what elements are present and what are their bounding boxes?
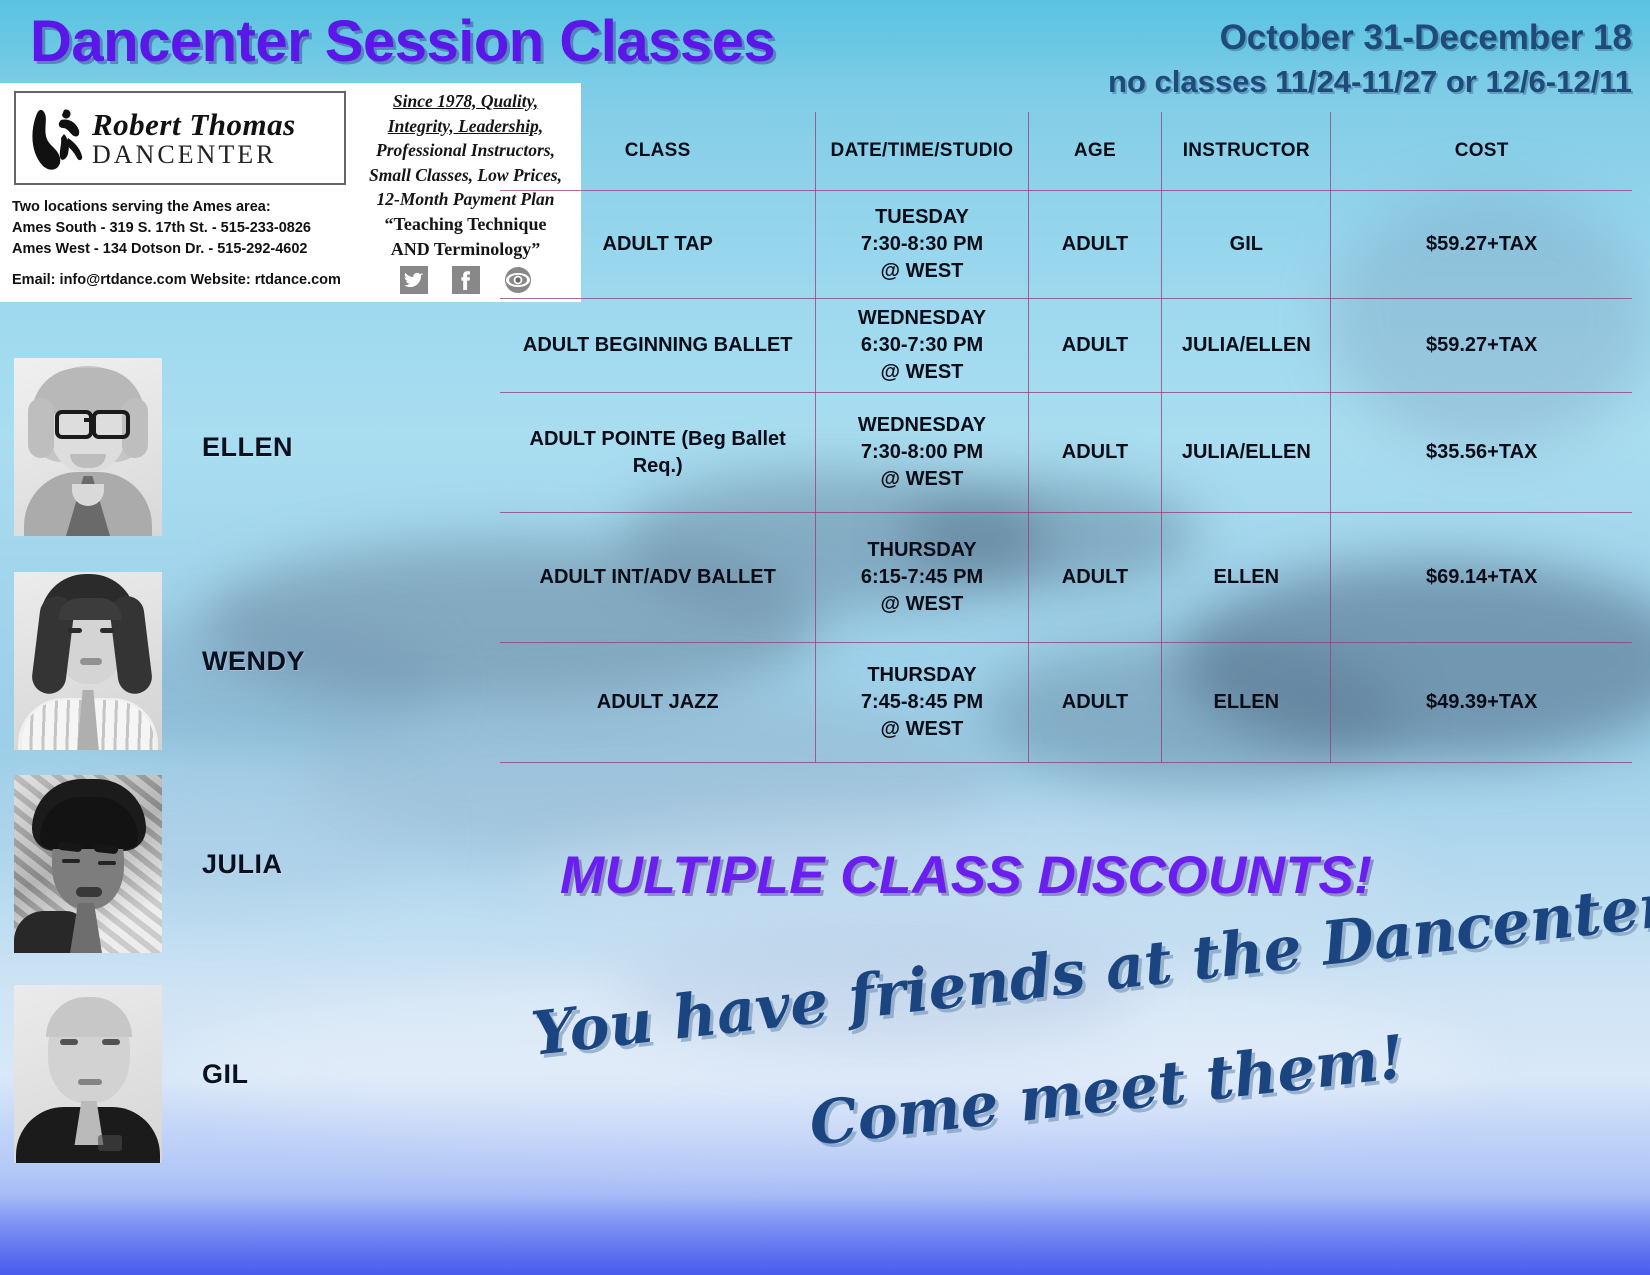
cell-cost: $69.14+TAX <box>1331 513 1632 643</box>
cell-age: ADULT <box>1028 191 1162 299</box>
table-row: ADULT TAP TUESDAY 7:30-8:30 PM @ WEST AD… <box>500 191 1632 299</box>
cell-datetime: THURSDAY 7:45-8:45 PM @ WEST <box>816 643 1028 763</box>
table-row: ADULT BEGINNING BALLET WEDNESDAY 6:30-7:… <box>500 299 1632 393</box>
table-row: ADULT POINTE (Beg Ballet Req.) WEDNESDAY… <box>500 393 1632 513</box>
facebook-icon[interactable] <box>452 266 480 294</box>
session-dates: October 31-December 18 no classes 11/24-… <box>1108 18 1632 102</box>
cell-class: ADULT JAZZ <box>500 643 816 763</box>
cell-instructor: ELLEN <box>1162 643 1331 763</box>
slogan-line-2: Come meet them! <box>806 1023 1408 1160</box>
cell-time: 7:45-8:45 PM <box>820 689 1023 716</box>
discount-banner: MULTIPLE CLASS DISCOUNTS! <box>560 845 1372 906</box>
studio-info-card: Robert Thomas DANCENTER Two locations se… <box>0 83 581 302</box>
cell-studio: @ WEST <box>820 591 1023 618</box>
column-header-age: AGE <box>1028 112 1162 191</box>
cell-time: 7:30-8:00 PM <box>820 439 1023 466</box>
dancer-logo-icon <box>28 102 86 174</box>
cell-age: ADULT <box>1028 643 1162 763</box>
contact-line: Email: info@rtdance.com Website: rtdance… <box>8 272 352 288</box>
table-row: ADULT INT/ADV BALLET THURSDAY 6:15-7:45 … <box>500 513 1632 643</box>
cell-day: TUESDAY <box>820 204 1023 231</box>
cell-studio: @ WEST <box>820 258 1023 285</box>
table-body: ADULT TAP TUESDAY 7:30-8:30 PM @ WEST AD… <box>500 191 1632 763</box>
cell-time: 6:30-7:30 PM <box>820 332 1023 359</box>
instructor-name: GIL <box>202 1059 249 1090</box>
location-ames-west: Ames West - 134 Dotson Dr. - 515-292-460… <box>12 239 352 260</box>
cell-datetime: WEDNESDAY 7:30-8:00 PM @ WEST <box>816 393 1028 513</box>
cell-class: ADULT INT/ADV BALLET <box>500 513 816 643</box>
cell-instructor: JULIA/ELLEN <box>1162 393 1331 513</box>
column-header-datetime: DATE/TIME/STUDIO <box>816 112 1028 191</box>
cell-age: ADULT <box>1028 513 1162 643</box>
class-schedule-table: CLASS DATE/TIME/STUDIO AGE INSTRUCTOR CO… <box>500 112 1632 763</box>
cell-cost: $59.27+TAX <box>1331 191 1632 299</box>
tagline-line-0: Since 1978, Quality, <box>358 89 573 114</box>
studio-contact-block: Robert Thomas DANCENTER Two locations se… <box>0 83 358 302</box>
instructor-wendy: WENDY <box>14 572 305 750</box>
cell-studio: @ WEST <box>820 716 1023 743</box>
cell-studio: @ WEST <box>820 359 1023 386</box>
avatar <box>14 358 162 536</box>
table-header-row: CLASS DATE/TIME/STUDIO AGE INSTRUCTOR CO… <box>500 112 1632 191</box>
avatar <box>14 775 162 953</box>
cell-cost: $35.56+TAX <box>1331 393 1632 513</box>
locations-block: Two locations serving the Ames area: Ame… <box>8 197 352 260</box>
cell-age: ADULT <box>1028 393 1162 513</box>
brand-name-script: Robert Thomas <box>92 109 296 140</box>
cell-studio: @ WEST <box>820 466 1023 493</box>
cell-class: ADULT BEGINNING BALLET <box>500 299 816 393</box>
table-header: CLASS DATE/TIME/STUDIO AGE INSTRUCTOR CO… <box>500 112 1632 191</box>
cell-instructor: GIL <box>1162 191 1331 299</box>
cell-class: ADULT POINTE (Beg Ballet Req.) <box>500 393 816 513</box>
column-header-instructor: INSTRUCTOR <box>1162 112 1331 191</box>
instructor-name: JULIA <box>202 849 283 880</box>
cell-datetime: WEDNESDAY 6:30-7:30 PM @ WEST <box>816 299 1028 393</box>
cell-day: THURSDAY <box>820 662 1023 689</box>
instructor-name: WENDY <box>202 646 305 677</box>
instructor-name: ELLEN <box>202 432 293 463</box>
cell-day: WEDNESDAY <box>820 305 1023 332</box>
cell-datetime: TUESDAY 7:30-8:30 PM @ WEST <box>816 191 1028 299</box>
instructor-gil: GIL <box>14 985 249 1163</box>
instructor-ellen: ELLEN <box>14 358 293 536</box>
brand-text: Robert Thomas DANCENTER <box>92 109 296 168</box>
twitter-icon[interactable] <box>400 266 428 294</box>
cell-instructor: JULIA/ELLEN <box>1162 299 1331 393</box>
date-range: October 31-December 18 <box>1108 18 1632 58</box>
cell-time: 7:30-8:30 PM <box>820 231 1023 258</box>
cell-time: 6:15-7:45 PM <box>820 564 1023 591</box>
cell-class: ADULT TAP <box>500 191 816 299</box>
cell-cost: $59.27+TAX <box>1331 299 1632 393</box>
cell-cost: $49.39+TAX <box>1331 643 1632 763</box>
cell-instructor: ELLEN <box>1162 513 1331 643</box>
column-header-class: CLASS <box>500 112 816 191</box>
location-ames-south: Ames South - 319 S. 17th St. - 515-233-0… <box>12 218 352 239</box>
cell-day: THURSDAY <box>820 537 1023 564</box>
column-header-cost: COST <box>1331 112 1632 191</box>
cell-day: WEDNESDAY <box>820 412 1023 439</box>
cell-datetime: THURSDAY 6:15-7:45 PM @ WEST <box>816 513 1028 643</box>
locations-heading: Two locations serving the Ames area: <box>12 197 352 218</box>
cell-age: ADULT <box>1028 299 1162 393</box>
instructor-julia: JULIA <box>14 775 283 953</box>
brand-name-dancenter: DANCENTER <box>92 142 296 168</box>
table-row: ADULT JAZZ THURSDAY 7:45-8:45 PM @ WEST … <box>500 643 1632 763</box>
avatar <box>14 985 162 1163</box>
no-classes-note: no classes 11/24-11/27 or 12/6-12/11 <box>1108 62 1632 102</box>
page-title: Dancenter Session Classes <box>30 8 775 75</box>
studio-logo: Robert Thomas DANCENTER <box>14 91 346 185</box>
avatar <box>14 572 162 750</box>
